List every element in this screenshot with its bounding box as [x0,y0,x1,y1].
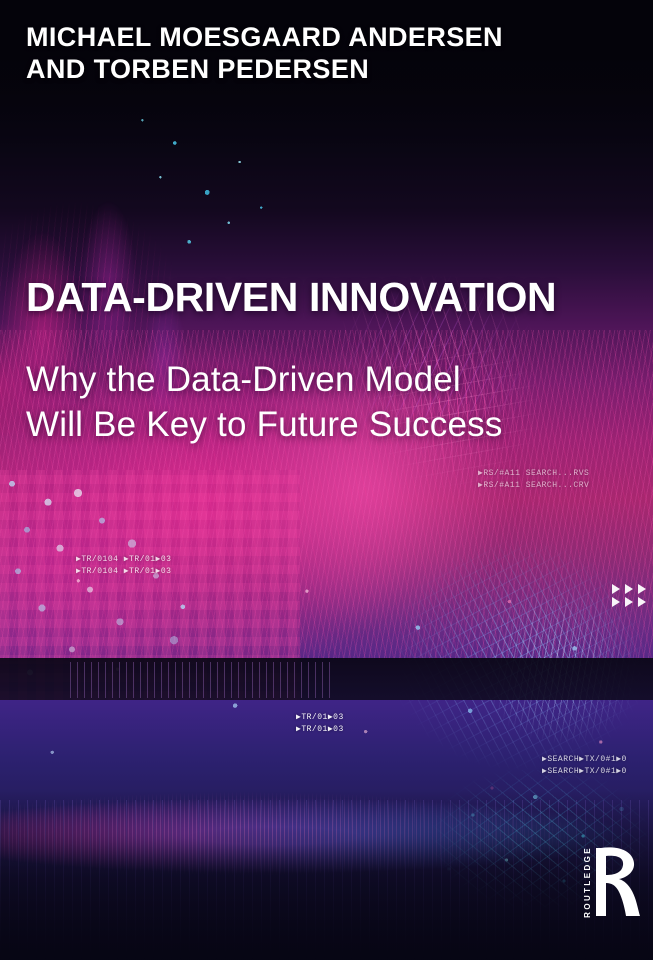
play-arrow-icon [625,584,633,594]
play-arrow-icon [638,597,646,607]
book-cover: ▶TR/0104 ▶TR/01▶03 ▶TR/0104 ▶TR/01▶03 ▶R… [0,0,653,960]
book-subtitle: Why the Data-Driven Model Will Be Key to… [26,358,503,448]
play-arrow-icon [625,597,633,607]
decorative-code-left: ▶TR/0104 ▶TR/01▶03 ▶TR/0104 ▶TR/01▶03 [76,554,171,577]
play-arrow-icon [612,597,620,607]
book-title: DATA-DRIVEN INNOVATION [26,274,556,321]
bottom-vignette [0,790,653,960]
routledge-r-icon [595,846,641,918]
play-arrow-icon [612,584,620,594]
play-arrow-icon-grid [612,584,649,607]
author-names: MICHAEL MOESGAARD ANDERSEN AND TORBEN PE… [26,22,503,86]
publisher-logo: ROUTLEDGE [584,844,641,918]
subtitle-line-2: Will Be Key to Future Success [26,403,503,448]
publisher-name: ROUTLEDGE [584,844,592,918]
play-arrow-icon [638,584,646,594]
glitch-band-ticks [70,662,330,698]
subtitle-line-1: Why the Data-Driven Model [26,358,503,403]
author-line-2: AND TORBEN PEDERSEN [26,54,503,86]
decorative-code-center: ▶TR/01▶03 ▶TR/01▶03 [296,712,344,735]
author-line-1: MICHAEL MOESGAARD ANDERSEN [26,22,503,54]
decorative-code-lower-right: ▶SEARCH▶TX/0#1▶0 ▶SEARCH▶TX/0#1▶0 [542,754,627,777]
decorative-code-upper-right: ▶RS/#A11 SEARCH...RVS ▶RS/#A11 SEARCH...… [478,468,589,491]
